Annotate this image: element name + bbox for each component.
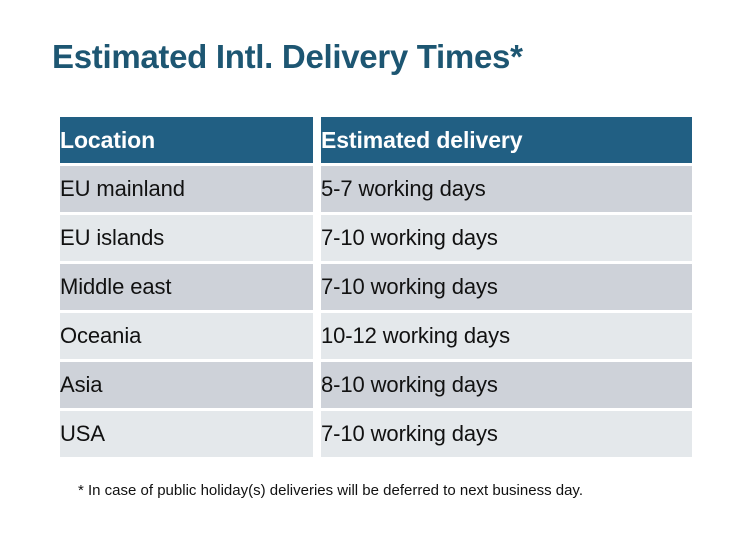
table-header-row: Location Estimated delivery bbox=[60, 117, 692, 163]
cell-location: Asia bbox=[60, 362, 313, 408]
page-title: Estimated Intl. Delivery Times* bbox=[52, 36, 523, 78]
cell-location: EU islands bbox=[60, 215, 313, 261]
cell-delivery: 7-10 working days bbox=[321, 264, 692, 310]
table-row: Asia 8-10 working days bbox=[60, 362, 692, 408]
cell-delivery: 10-12 working days bbox=[321, 313, 692, 359]
cell-delivery: 7-10 working days bbox=[321, 215, 692, 261]
cell-location: EU mainland bbox=[60, 166, 313, 212]
table-row: EU islands 7-10 working days bbox=[60, 215, 692, 261]
table-row: USA 7-10 working days bbox=[60, 411, 692, 457]
table-row: Middle east 7-10 working days bbox=[60, 264, 692, 310]
column-header-location: Location bbox=[60, 117, 313, 163]
delivery-times-page: Estimated Intl. Delivery Times* Location… bbox=[0, 0, 745, 536]
cell-location: USA bbox=[60, 411, 313, 457]
delivery-times-table: Location Estimated delivery EU mainland … bbox=[52, 114, 700, 460]
table-header: Location Estimated delivery bbox=[60, 117, 692, 163]
table-row: EU mainland 5-7 working days bbox=[60, 166, 692, 212]
table-body: EU mainland 5-7 working days EU islands … bbox=[60, 166, 692, 457]
cell-delivery: 8-10 working days bbox=[321, 362, 692, 408]
cell-location: Oceania bbox=[60, 313, 313, 359]
column-header-estimated-delivery: Estimated delivery bbox=[321, 117, 692, 163]
table-row: Oceania 10-12 working days bbox=[60, 313, 692, 359]
cell-delivery: 7-10 working days bbox=[321, 411, 692, 457]
cell-delivery: 5-7 working days bbox=[321, 166, 692, 212]
footnote-text: * In case of public holiday(s) deliverie… bbox=[78, 481, 583, 501]
cell-location: Middle east bbox=[60, 264, 313, 310]
